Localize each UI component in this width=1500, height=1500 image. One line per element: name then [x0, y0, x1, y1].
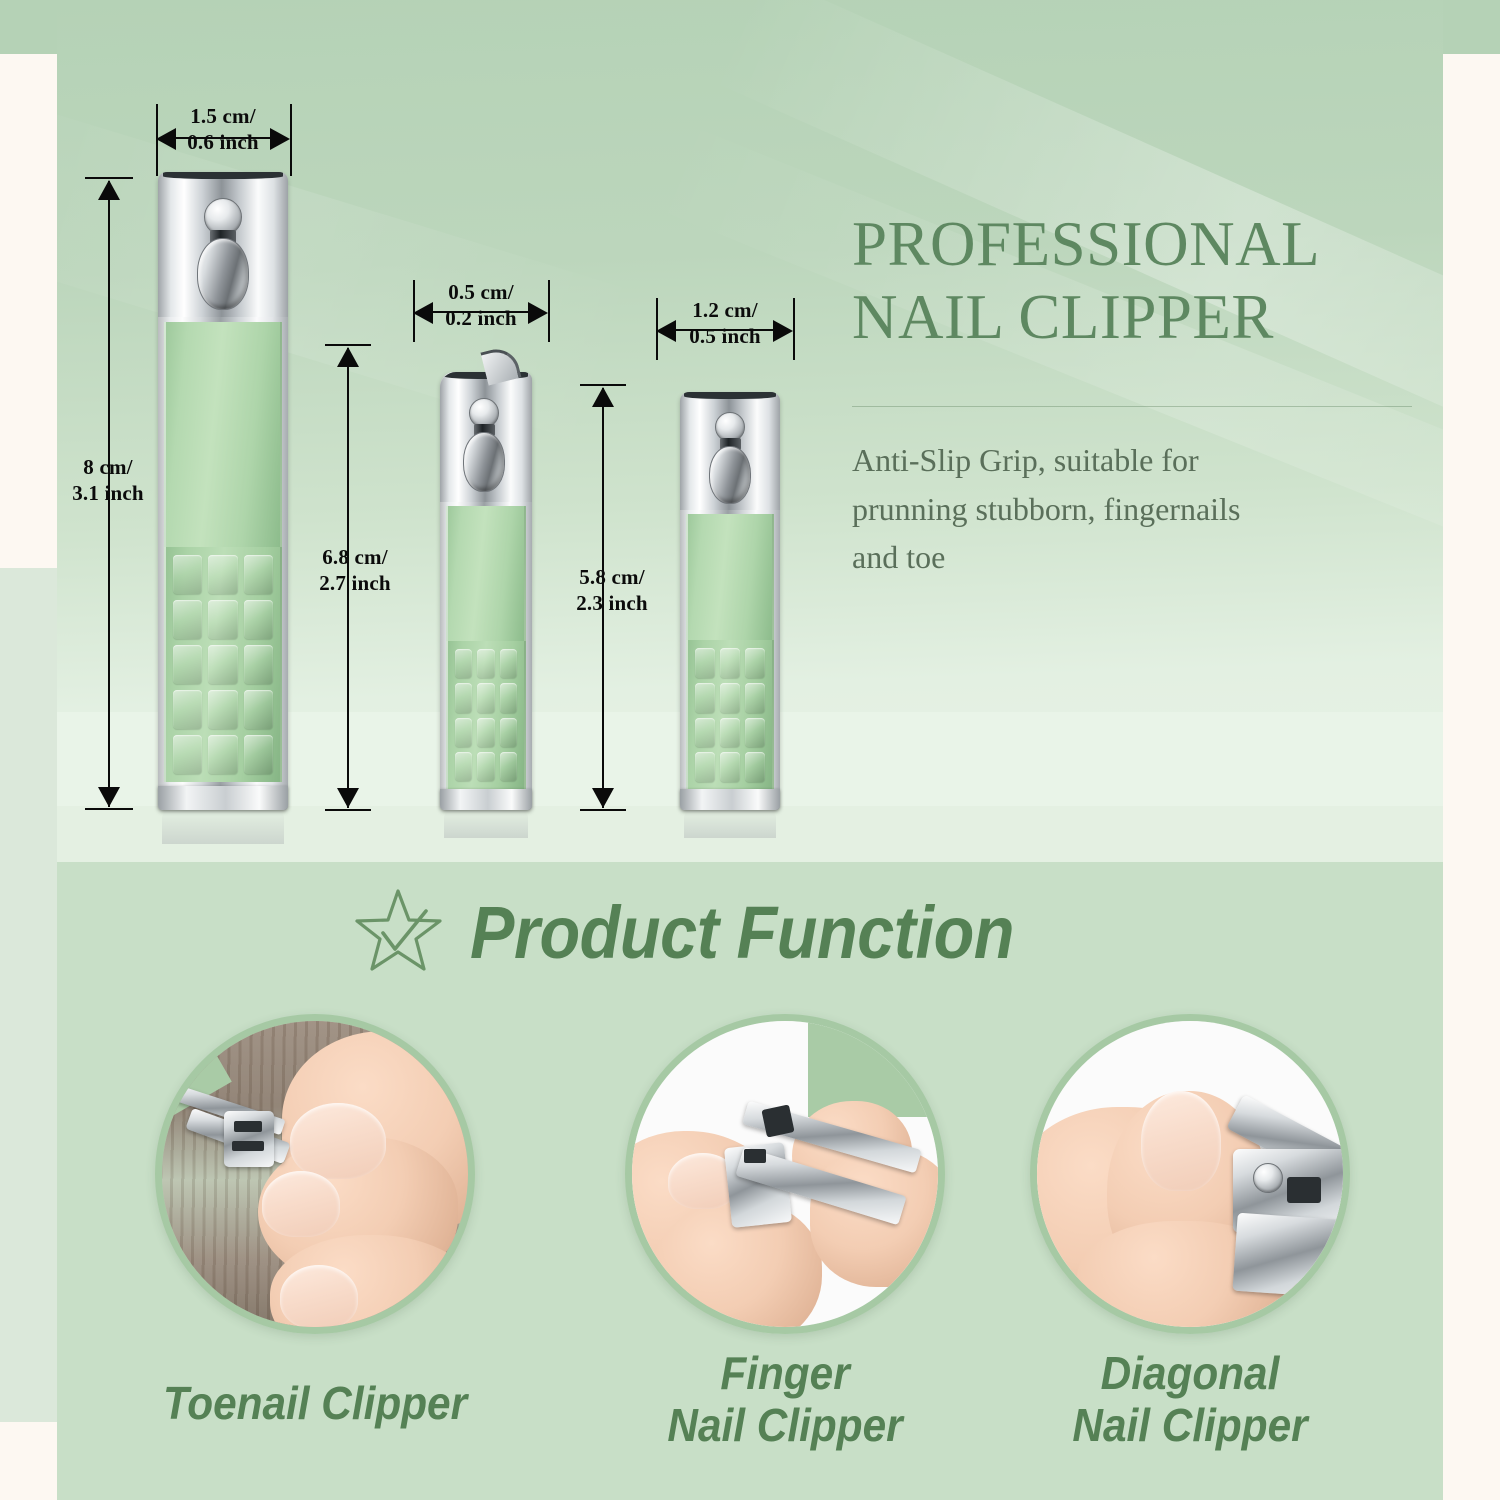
dim-tick	[85, 808, 133, 810]
grip-pad-upper	[686, 514, 774, 640]
lever-icon	[709, 446, 751, 504]
dim-label-mid-height: 6.8 cm/ 2.7 inch	[295, 545, 415, 596]
clipper-head-small	[680, 392, 780, 510]
clipper-medium	[440, 372, 532, 810]
reflection	[684, 810, 776, 838]
finger-nail-clipper-photo	[625, 1014, 945, 1334]
light-streak	[57, 90, 646, 448]
arrow-down-icon	[592, 788, 614, 808]
section-heading: Product Function	[352, 886, 1075, 978]
hero-subcopy: Anti-Slip Grip, suitable for prunning st…	[852, 436, 1432, 582]
arrow-up-icon	[592, 387, 614, 407]
star-check-icon	[352, 886, 448, 978]
grip-pad-textured	[686, 640, 774, 790]
arrow-up-icon	[337, 347, 359, 367]
lever-icon	[463, 432, 505, 492]
toenail-clipper-photo	[155, 1014, 475, 1334]
grip-pad-upper	[164, 322, 282, 547]
reflection	[444, 810, 528, 838]
clipper-small	[680, 392, 780, 810]
caption-toenail-clipper: Toenail Clipper	[154, 1378, 476, 1430]
dim-tick	[325, 344, 371, 346]
lever-icon	[197, 238, 249, 310]
grip-pad-textured	[164, 547, 282, 782]
left-accent-strip-lower	[0, 862, 57, 1422]
rivet-icon	[1253, 1163, 1283, 1193]
left-accent-strip-upper	[0, 568, 57, 862]
clipper-large	[158, 172, 288, 810]
grip-pad-upper	[446, 506, 526, 641]
dim-tick	[580, 809, 626, 811]
page-title: PROFESSIONAL NAIL CLIPPER	[852, 208, 1432, 354]
arrow-down-icon	[98, 787, 120, 807]
caption-diagonal-nail-clipper: Diagonal Nail Clipper	[1029, 1348, 1351, 1451]
section-title: Product Function	[470, 890, 1014, 975]
clipper-head-large	[158, 172, 288, 317]
dim-tick	[85, 177, 133, 179]
clipper-foot-small	[680, 789, 780, 810]
dim-label-large-height: 8 cm/ 3.1 inch	[58, 455, 158, 506]
arrow-down-icon	[337, 788, 359, 808]
clipper-foot-medium	[440, 789, 532, 810]
clipper-head-medium	[440, 372, 532, 502]
dim-tick	[325, 809, 371, 811]
caption-finger-nail-clipper: Finger Nail Clipper	[624, 1348, 946, 1451]
dim-label-small-width: 1.2 cm/ 0.5 inch	[650, 298, 800, 349]
dim-label-large-width: 1.5 cm/ 0.6 inch	[148, 104, 298, 155]
dim-label-small-height: 5.8 cm/ 2.3 inch	[552, 565, 672, 616]
grip-pad-textured	[446, 641, 526, 789]
reflection	[162, 810, 284, 844]
arrow-up-icon	[98, 180, 120, 200]
clipper-foot-large	[158, 786, 288, 810]
title-divider	[852, 406, 1412, 407]
dim-label-mid-width: 0.5 cm/ 0.2 inch	[406, 280, 556, 331]
dim-tick	[580, 384, 626, 386]
product-infographic: 1.5 cm/ 0.6 inch 8 cm/ 3.1 inch	[0, 0, 1500, 1500]
diagonal-nail-clipper-photo	[1030, 1014, 1350, 1334]
